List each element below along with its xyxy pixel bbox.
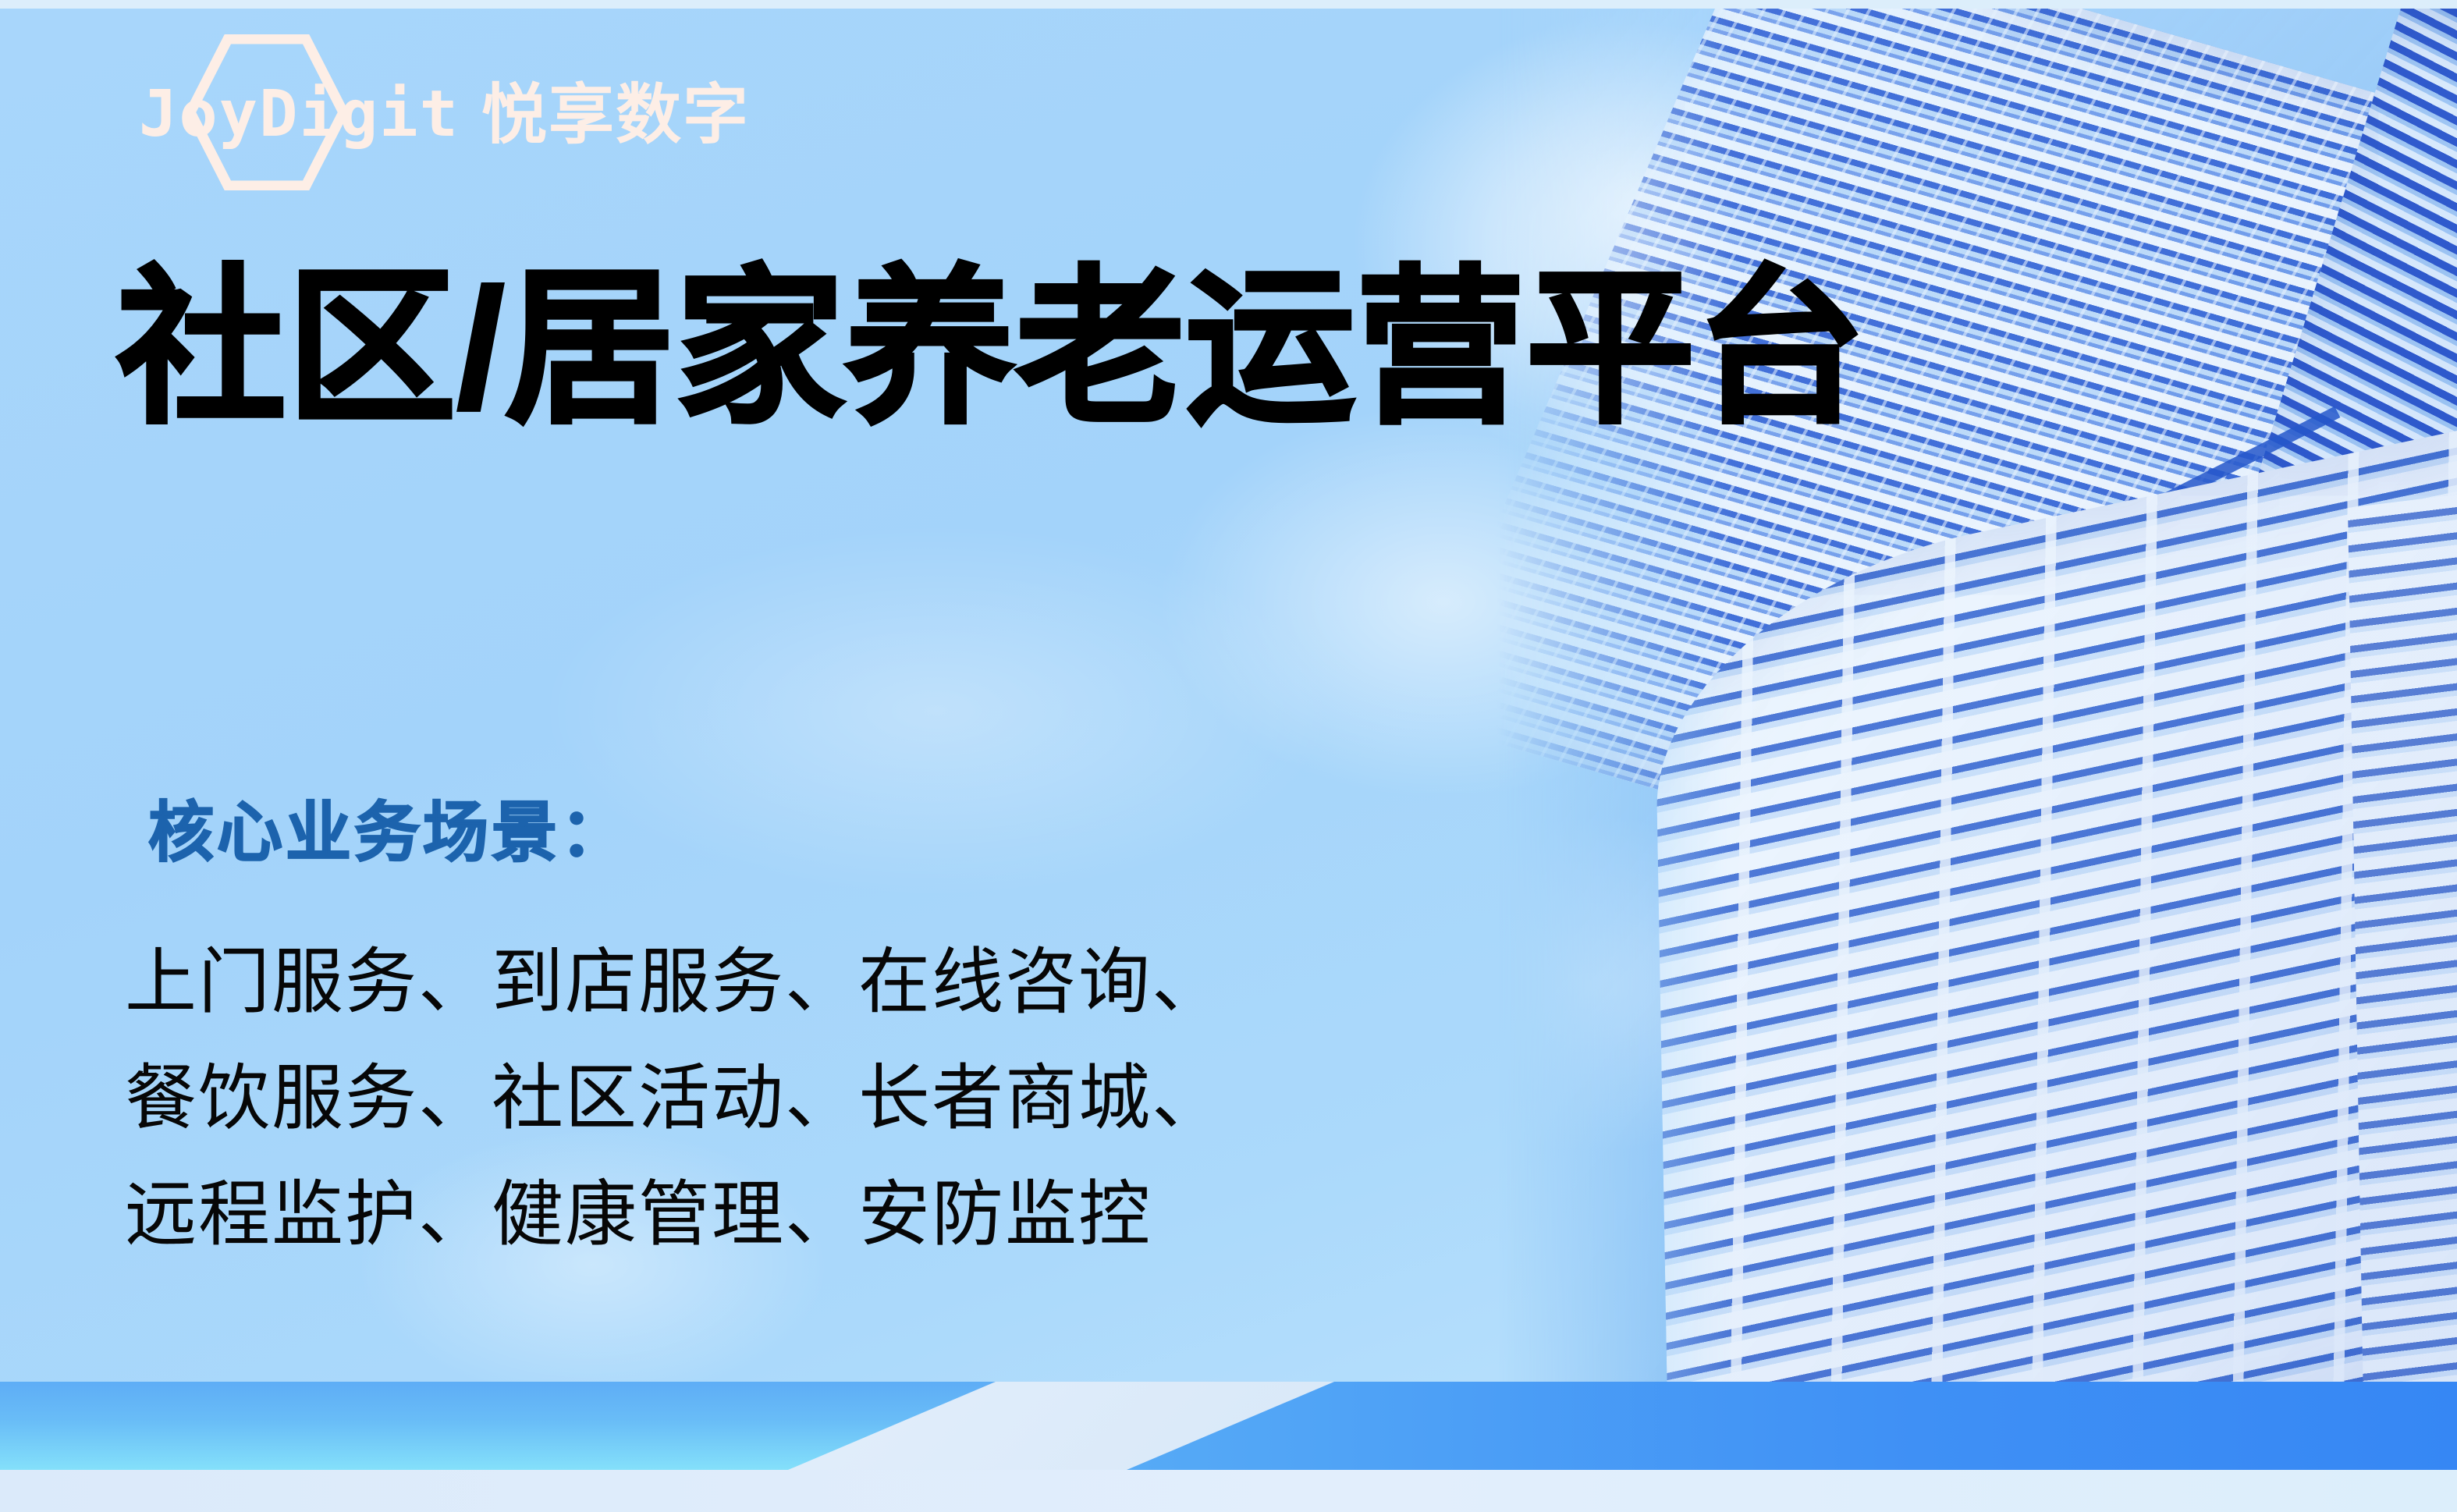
- ribbon-footer-strip: [0, 1470, 2457, 1512]
- skyscraper-photo: [1497, 9, 2457, 1382]
- bottom-ribbon: [0, 1382, 2457, 1512]
- scenario-line: 餐饮服务、社区活动、长者商城、: [125, 1041, 1225, 1157]
- scenario-list: 上门服务、到店服务、在线咨询、 餐饮服务、社区活动、长者商城、 远程监护、健康管…: [125, 925, 1225, 1273]
- top-edge-strip: [0, 0, 2457, 9]
- section-heading: 核心业务场景：: [148, 780, 629, 875]
- photo-blue-tint: [1497, 9, 2457, 1382]
- scenario-line: 远程监护、健康管理、安防监控: [125, 1157, 1225, 1273]
- brand-logo: JoyDigit 悦享数字: [139, 64, 750, 165]
- logo-wordmark-en: JoyDigit: [139, 83, 460, 147]
- scenario-line: 上门服务、到店服务、在线咨询、: [125, 925, 1225, 1041]
- slide-canvas: JoyDigit 悦享数字 社区/居家养老运营平台 核心业务场景： 上门服务、到…: [0, 0, 2457, 1512]
- logo-wordmark-cn: 悦享数字: [481, 82, 750, 147]
- page-title: 社区/居家养老运营平台: [117, 257, 1866, 439]
